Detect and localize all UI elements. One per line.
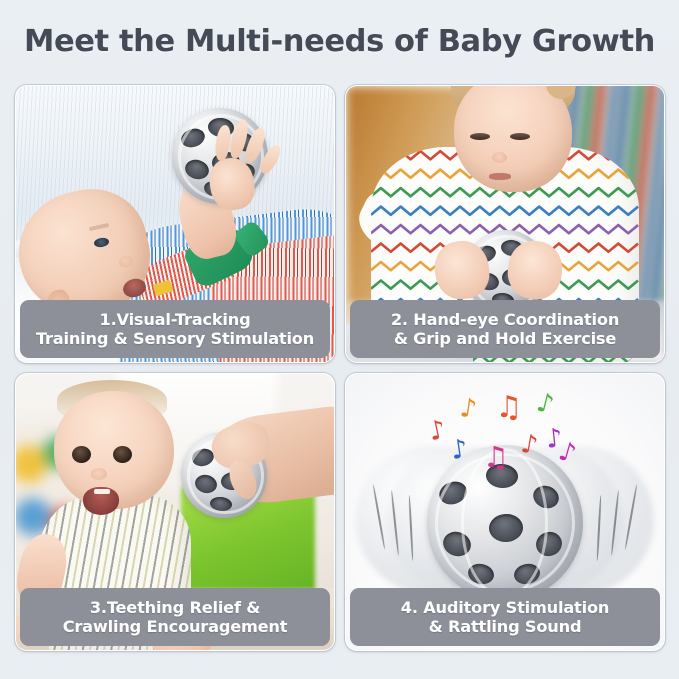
music-note-icon: ♪ — [519, 431, 540, 459]
toddler-eye-left — [470, 133, 490, 140]
panel-1-caption-line2: Training & Sensory Stimulation — [36, 329, 314, 348]
panel-2-caption: 2. Hand-eye Coordination & Grip and Hold… — [350, 300, 660, 358]
infographic-page: Meet the Multi-needs of Baby Growth — [0, 0, 679, 679]
baby-tooth — [94, 489, 110, 494]
toddler-eye-right — [510, 133, 530, 140]
panel-2-caption-line2: & Grip and Hold Exercise — [394, 329, 616, 348]
panel-1-caption-line1: 1.Visual-Tracking — [100, 310, 251, 329]
music-note-icon: ♪ — [426, 417, 448, 446]
toddler-mouth — [489, 173, 511, 180]
music-note-icon: ♪ — [534, 389, 556, 418]
feature-panel-3[interactable]: 3.Teething Relief & Crawling Encourageme… — [15, 373, 335, 651]
panel-4-caption-line2: & Rattling Sound — [429, 617, 582, 636]
panel-3-caption-line2: Crawling Encouragement — [63, 617, 288, 636]
page-title-bar: Meet the Multi-needs of Baby Growth — [0, 0, 679, 82]
panel-4-caption-line1: 4. Auditory Stimulation — [401, 598, 609, 617]
music-note-icon: ♪ — [449, 436, 469, 464]
panel-3-caption-line1: 3.Teething Relief & — [90, 598, 260, 617]
feature-panel-2[interactable]: 2. Hand-eye Coordination & Grip and Hold… — [345, 85, 665, 363]
baby-nose — [91, 468, 107, 480]
music-note-icon: ♫ — [495, 393, 522, 423]
feature-panel-1[interactable]: 1.Visual-Tracking Training & Sensory Sti… — [15, 85, 335, 363]
feature-panel-4[interactable]: ♪ ♪ ♫ ♪ ♪ ♫ ♪ ♪ ♪ 4. Auditory Stimulatio… — [345, 373, 665, 651]
music-note-icon: ♪ — [459, 395, 479, 423]
page-title: Meet the Multi-needs of Baby Growth — [24, 24, 655, 59]
panel-2-caption-line1: 2. Hand-eye Coordination — [391, 310, 619, 329]
baby-eye-right — [113, 446, 132, 463]
panel-1-caption: 1.Visual-Tracking Training & Sensory Sti… — [20, 300, 330, 358]
feature-panel-grid: 1.Visual-Tracking Training & Sensory Sti… — [15, 85, 665, 655]
panel-3-caption: 3.Teething Relief & Crawling Encourageme… — [20, 588, 330, 646]
panel-4-caption: 4. Auditory Stimulation & Rattling Sound — [350, 588, 660, 646]
music-note-icon: ♫ — [483, 443, 509, 472]
baby-eye-left — [72, 446, 91, 463]
